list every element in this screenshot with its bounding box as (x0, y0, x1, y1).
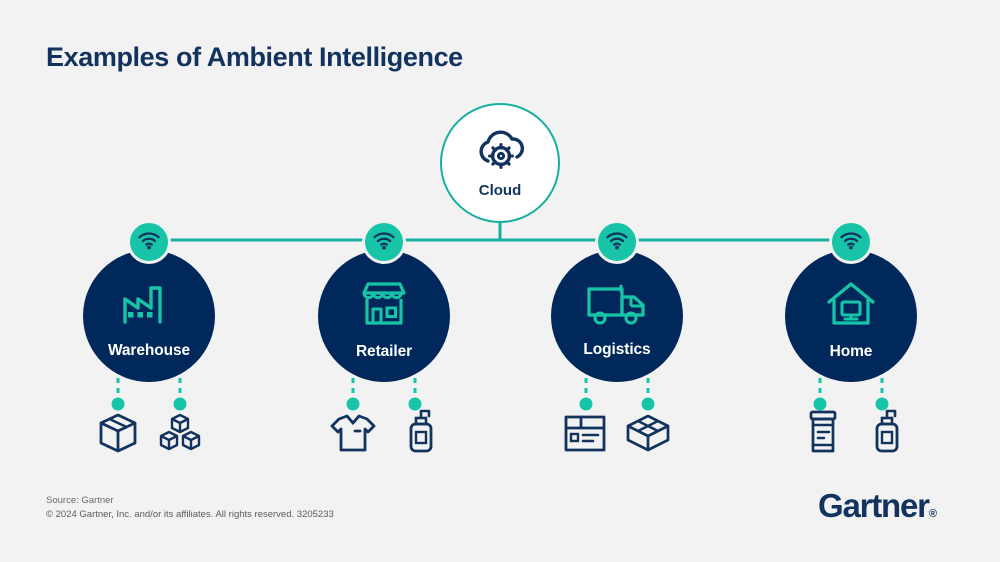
stacked-cubes-icon (157, 411, 203, 460)
product-open-box[interactable] (625, 412, 671, 458)
house-monitor-icon (825, 280, 877, 333)
footer-copyright: © 2024 Gartner, Inc. and/or its affiliat… (46, 508, 334, 522)
cloud-hub-label: Cloud (479, 182, 522, 199)
footer: Source: Gartner © 2024 Gartner, Inc. and… (46, 494, 334, 523)
wifi-badge-logistics[interactable] (595, 220, 639, 264)
product-closed-box[interactable] (95, 412, 141, 458)
node-retailer[interactable]: Retailer (318, 250, 450, 382)
node-warehouse-label: Warehouse (108, 342, 190, 360)
drop-dot (112, 398, 125, 411)
cloud-hub-node[interactable]: Cloud (440, 103, 560, 223)
factory-icon (120, 281, 178, 332)
canister-jar-icon (805, 408, 841, 459)
drop-dot (580, 398, 593, 411)
wifi-icon (137, 230, 161, 255)
node-logistics[interactable]: Logistics (551, 250, 683, 382)
wifi-badge-home[interactable] (829, 220, 873, 264)
node-warehouse[interactable]: Warehouse (83, 250, 215, 382)
product-stacked-cubes[interactable] (157, 412, 203, 458)
gartner-logo-text: Gartner (818, 487, 929, 524)
diagram-canvas: Examples of Ambient Intelligence (0, 0, 1000, 562)
node-logistics-circle[interactable]: Logistics (551, 250, 683, 382)
closed-box-icon (97, 411, 139, 460)
wifi-badge-warehouse[interactable] (127, 220, 171, 264)
node-retailer-label: Retailer (356, 343, 412, 361)
node-logistics-label: Logistics (583, 341, 650, 359)
node-retailer-circle[interactable]: Retailer (318, 250, 450, 382)
page-title: Examples of Ambient Intelligence (46, 42, 463, 73)
gartner-logo: Gartner® (818, 487, 937, 525)
product-polo-shirt[interactable] (330, 412, 376, 458)
node-warehouse-circle[interactable]: Warehouse (83, 250, 215, 382)
footer-source: Source: Gartner (46, 494, 334, 508)
storefront-icon (359, 280, 409, 333)
wifi-icon (839, 230, 863, 255)
polo-shirt-icon (329, 412, 377, 459)
product-pump-bottle-home[interactable] (864, 410, 910, 456)
product-canister-jar[interactable] (800, 410, 846, 456)
delivery-truck-icon (586, 282, 648, 331)
drop-dot (347, 398, 360, 411)
wifi-badge-retailer[interactable] (362, 220, 406, 264)
pump-bottle-icon (404, 408, 438, 459)
node-home-label: Home (830, 343, 873, 361)
product-pump-bottle[interactable] (398, 410, 444, 456)
registered-trademark-icon: ® (929, 508, 937, 520)
pump-bottle-icon (870, 408, 904, 459)
product-labeled-parcel[interactable] (562, 412, 608, 458)
node-home[interactable]: Home (785, 250, 917, 382)
open-box-icon (624, 412, 672, 459)
wifi-icon (372, 230, 396, 255)
labeled-parcel-icon (562, 412, 608, 459)
node-home-circle[interactable]: Home (785, 250, 917, 382)
drop-dot (642, 398, 655, 411)
wifi-icon (605, 230, 629, 255)
drop-dot (174, 398, 187, 411)
cloud-gear-icon (472, 129, 528, 176)
